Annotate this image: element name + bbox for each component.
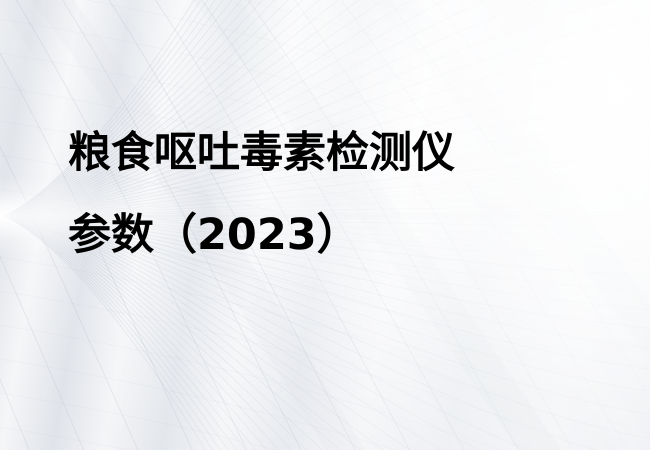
- banner: 粮食呕吐毒素检测仪 参数（2023）: [0, 0, 650, 450]
- banner-title: 粮食呕吐毒素检测仪 参数（2023）: [68, 112, 628, 276]
- title-line-2: 参数（2023）: [68, 194, 628, 276]
- title-line-1: 粮食呕吐毒素检测仪: [68, 112, 628, 194]
